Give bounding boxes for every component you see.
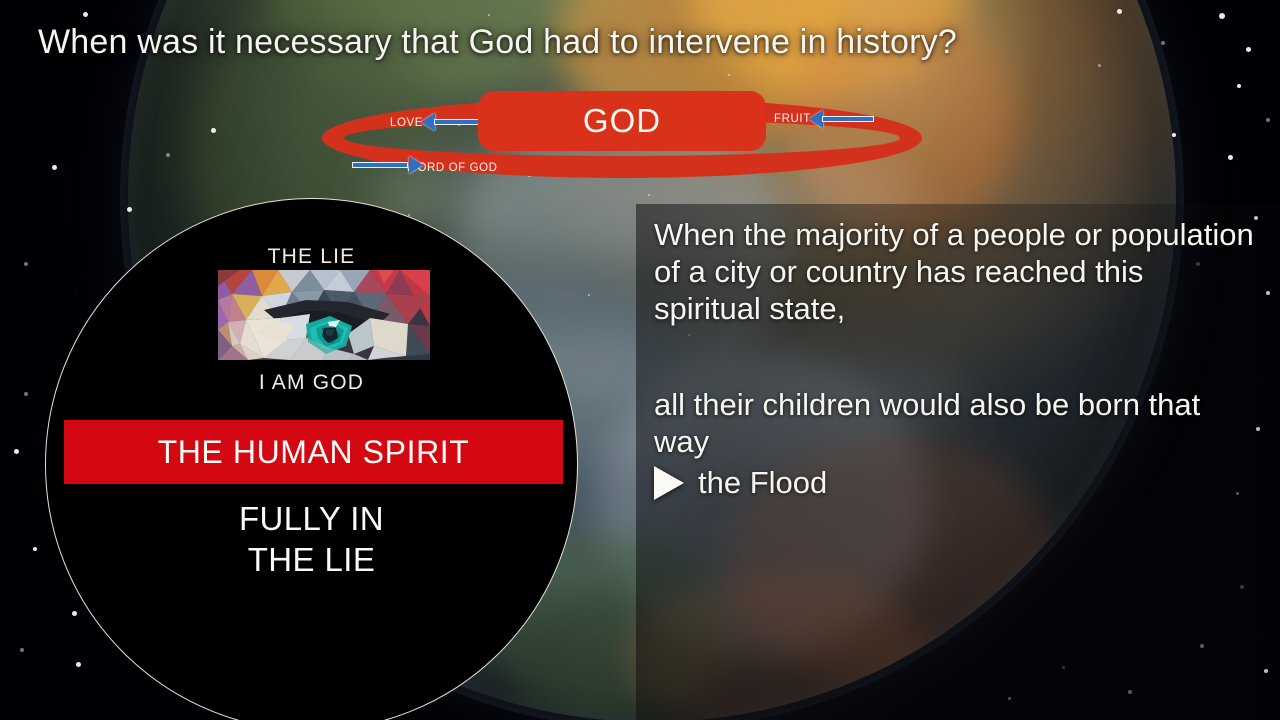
god-cycle-diagram: LOVE WORD OF GOD FRUIT GOD bbox=[322, 86, 922, 182]
human-spirit-circle-panel: THE LIE bbox=[45, 198, 578, 720]
conclusion-row: the Flood bbox=[654, 464, 1254, 501]
god-label-box: GOD bbox=[478, 91, 766, 151]
mosaic-eye-icon bbox=[218, 270, 430, 360]
explanation-text-panel: When the majority of a people or populat… bbox=[636, 204, 1280, 720]
spirit-state-text: FULLY IN THE LIE bbox=[46, 499, 577, 581]
human-spirit-banner-text: THE HUMAN SPIRIT bbox=[158, 434, 470, 471]
slide-title: When was it necessary that God had to in… bbox=[38, 24, 957, 61]
spirit-state-line-2: THE LIE bbox=[46, 540, 577, 581]
human-spirit-banner: THE HUMAN SPIRIT bbox=[64, 420, 563, 484]
mosaic-eye-svg bbox=[218, 270, 430, 360]
spirit-state-line-1: FULLY IN bbox=[46, 499, 577, 540]
cycle-label-fruit: FRUIT bbox=[774, 113, 811, 125]
slide-canvas: When was it necessary that God had to in… bbox=[0, 0, 1280, 720]
cycle-label-love: LOVE bbox=[390, 117, 423, 129]
god-label-text: GOD bbox=[583, 102, 661, 140]
circle-bottom-label: I AM GOD bbox=[46, 371, 577, 395]
explanation-paragraph-1: When the majority of a people or populat… bbox=[654, 216, 1254, 328]
conclusion-text: the Flood bbox=[698, 464, 827, 501]
circle-top-label: THE LIE bbox=[46, 245, 577, 269]
paragraph-spacer bbox=[654, 328, 1254, 386]
triangle-right-icon bbox=[654, 466, 684, 500]
explanation-paragraph-2: all their children would also be born th… bbox=[654, 386, 1254, 460]
